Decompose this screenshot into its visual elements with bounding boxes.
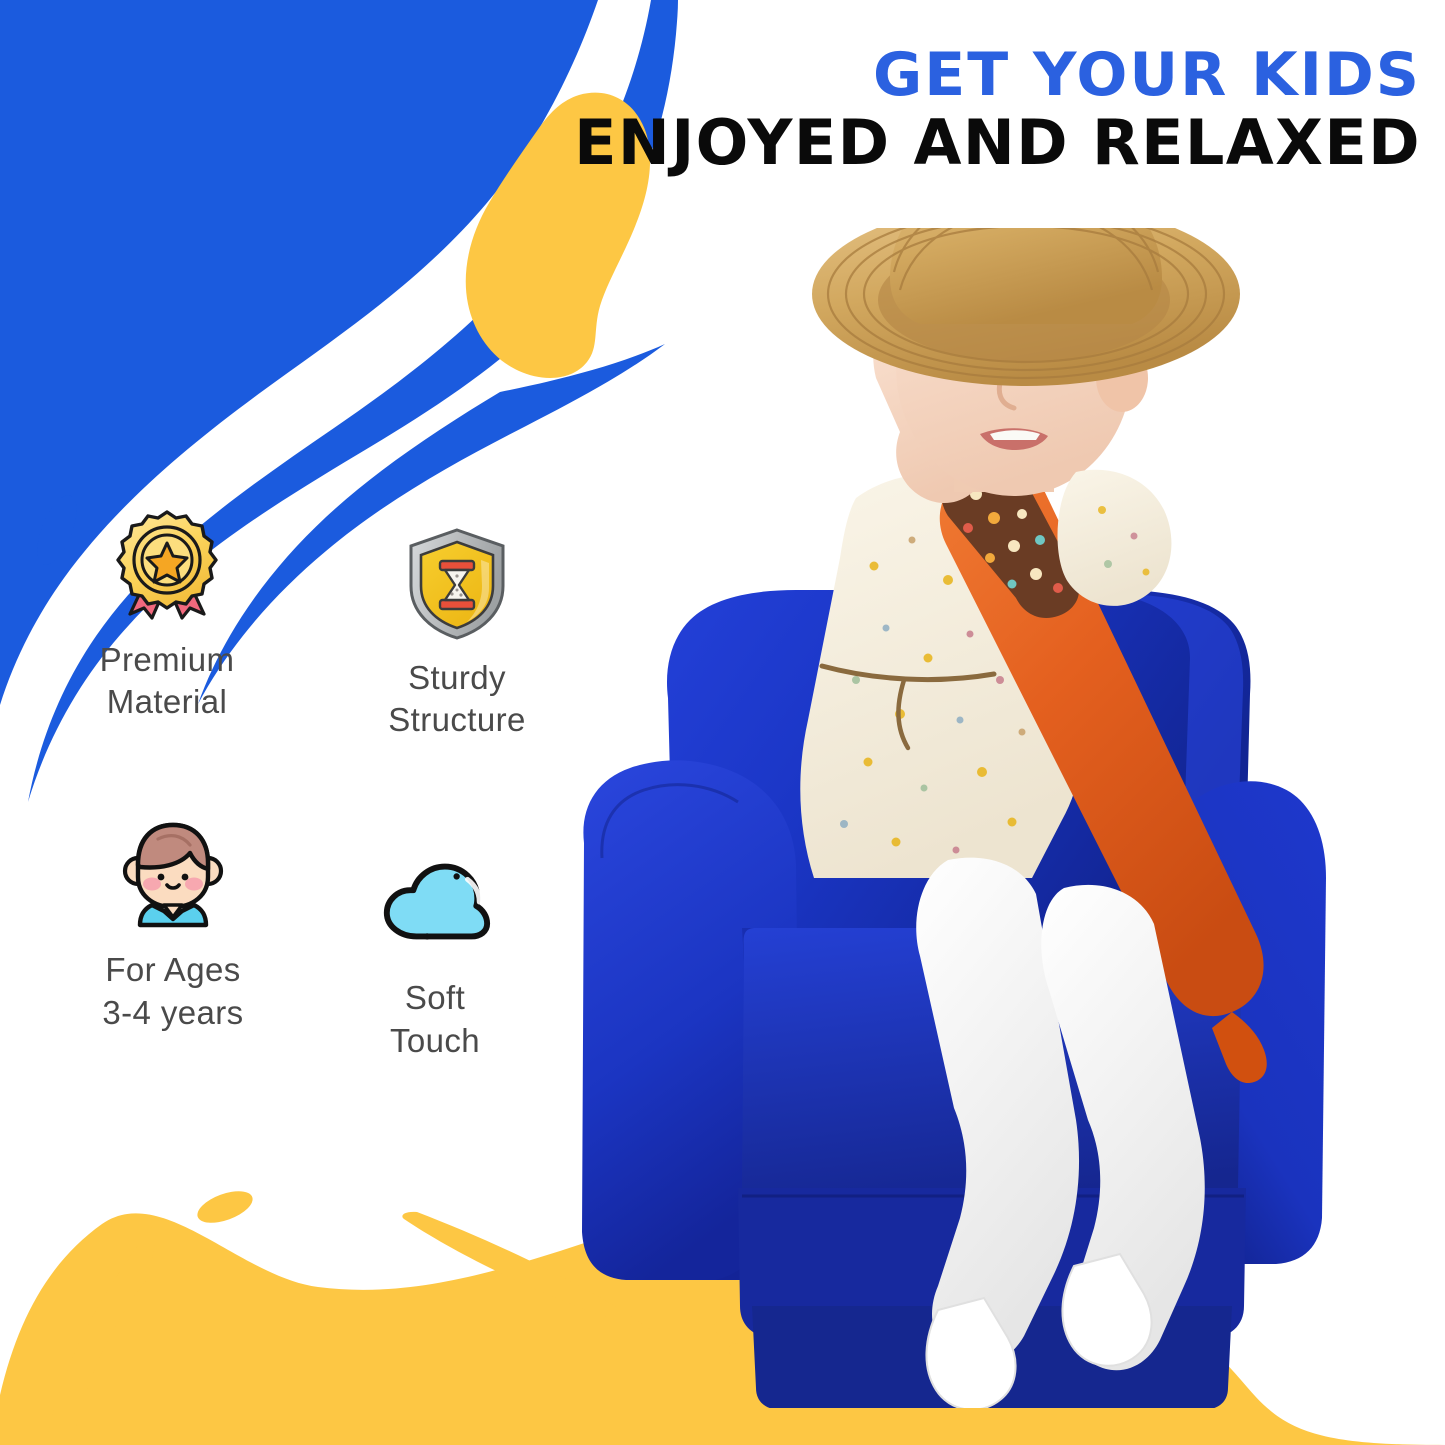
headline: GET YOUR KIDS ENJOYED AND RELAXED — [574, 46, 1421, 174]
product-feature-poster: GET YOUR KIDS ENJOYED AND RELAXED — [0, 0, 1445, 1445]
cloud-shape — [387, 867, 487, 937]
child-icon-eye-right — [182, 874, 189, 881]
child-icon-cheek-right — [185, 878, 203, 891]
hourglass-sand-4 — [456, 589, 459, 592]
feature-list: Premium Material — [52, 505, 592, 1034]
cloud-icon — [375, 843, 495, 963]
feature-label-soft-touch: Soft Touch — [390, 977, 480, 1061]
yellow-leaf-accent-left — [193, 1185, 256, 1229]
feature-premium-material: Premium Material — [52, 505, 282, 723]
feature-label-sturdy-structure: Sturdy Structure — [388, 657, 526, 741]
child-icon-eye-left — [158, 874, 165, 881]
feature-soft-touch: Soft Touch — [320, 843, 550, 1061]
feature-sturdy-structure: Sturdy Structure — [342, 523, 572, 741]
cloud-dot-bottom — [424, 934, 430, 940]
feature-label-premium-material: Premium Material — [100, 639, 235, 723]
child-icon-hair — [138, 825, 208, 869]
hourglass-sand-1 — [455, 574, 458, 577]
headline-line-1: GET YOUR KIDS — [574, 46, 1421, 105]
feature-for-ages: For Ages 3-4 years — [58, 815, 288, 1033]
award-medal-icon — [107, 505, 227, 625]
shield-hourglass-icon — [397, 523, 517, 643]
yellow-arc-outline — [46, 1219, 159, 1445]
feature-label-for-ages: For Ages 3-4 years — [102, 949, 243, 1033]
cloud-dot-top — [453, 874, 459, 880]
child-dress-sleeve — [1058, 470, 1172, 606]
headline-line-2: ENJOYED AND RELAXED — [574, 113, 1421, 174]
child-on-blue-kids-sofa-photo — [556, 228, 1416, 1408]
child-face-icon — [113, 815, 233, 935]
hourglass-sand-3 — [459, 593, 462, 596]
child-icon-cheek-left — [143, 878, 161, 891]
hourglass-bottom-bar — [440, 600, 474, 609]
hourglass-top-bar — [440, 561, 474, 570]
hourglass-sand-2 — [450, 592, 453, 595]
